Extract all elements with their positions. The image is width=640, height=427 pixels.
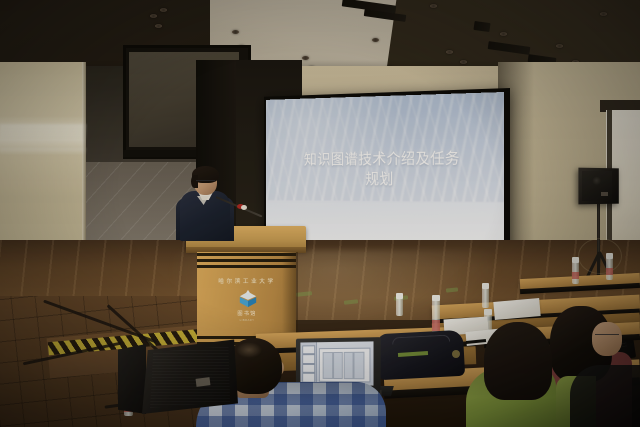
hair-highlight (236, 342, 262, 358)
bottle-cap (572, 257, 579, 263)
slide-title-line1: 知识图谱技术介绍及任务 (287, 148, 479, 170)
downlight-icon (155, 24, 162, 28)
bottle-cap (396, 293, 403, 299)
bottle-label (572, 272, 579, 279)
laptop-screen[interactable] (300, 341, 373, 385)
laptop-document-area[interactable] (319, 348, 371, 383)
podium-logo-subcaption: LIBRARY (214, 318, 280, 322)
downlight-icon (232, 30, 239, 34)
marble-highlight (0, 148, 86, 155)
open-book-emblem-icon (237, 289, 259, 309)
bottle-cap (482, 283, 489, 289)
eyeglasses-icon (196, 180, 215, 186)
bottle-cap (484, 309, 492, 315)
downlight-icon (372, 38, 379, 42)
marble-highlight (0, 124, 86, 140)
downlight-icon (446, 50, 453, 54)
downlight-icon (500, 32, 507, 36)
water-bottle (482, 288, 489, 308)
bottle-label (606, 268, 613, 275)
slide-title: 知识图谱技术介绍及任务 规划 (266, 148, 504, 191)
downlight-icon (150, 14, 157, 18)
slide-title-line2: 规划 (287, 169, 479, 190)
downlight-icon (556, 44, 563, 48)
bag-clasp (452, 350, 460, 358)
downlight-icon (600, 12, 607, 16)
stage-equipment-panel (118, 344, 146, 414)
podium-logo-caption: 图书馆 (214, 310, 280, 317)
tripod-reflection-ring (578, 238, 622, 274)
stage-monitor-grille (150, 346, 230, 408)
pa-speaker-badge (601, 192, 608, 196)
downlight-icon (430, 4, 437, 8)
slide-thumbnail[interactable] (302, 364, 315, 374)
document-column (343, 352, 354, 379)
podium-logo-arc-text: 哈尔滨工业大学 (214, 276, 280, 290)
photograph-scene: 知识图谱技术介绍及任务 规划 哈尔滨工业大学 图书 (0, 0, 640, 427)
slide-thumbnail[interactable] (302, 354, 315, 364)
slide-thumbnail[interactable] (302, 373, 315, 383)
document-column (333, 352, 343, 379)
slide-thumbnail[interactable] (302, 345, 315, 355)
laptop-slide-sidebar[interactable] (300, 342, 316, 384)
podium-logo: 哈尔滨工业大学 图书馆 LIBRARY (214, 276, 280, 330)
document-column (354, 352, 365, 379)
pa-speaker-driver (592, 176, 601, 185)
eyeglasses-icon (595, 334, 619, 340)
bottle-cap (606, 253, 613, 259)
downlight-icon (160, 8, 167, 12)
woman-in-green-hair (484, 322, 552, 400)
water-bottle (396, 298, 403, 316)
foreground-dark-object (570, 365, 640, 427)
bottle-cap (432, 295, 440, 301)
document-column (323, 352, 333, 379)
bottle-label (432, 320, 440, 331)
microphone-capsule (241, 205, 247, 210)
stage-monitor-badge (196, 377, 211, 387)
